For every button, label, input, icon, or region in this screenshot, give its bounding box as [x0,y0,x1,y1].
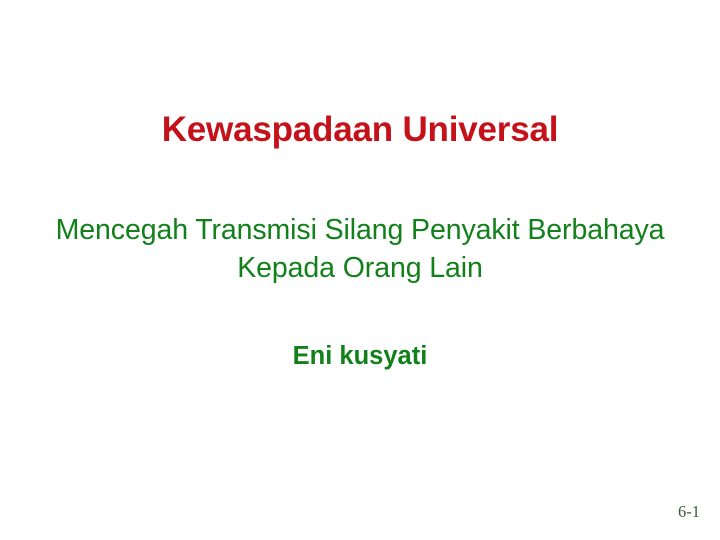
page-title: Kewaspadaan Universal [0,109,720,151]
slide-subtitle: Mencegah Transmisi Silang Penyakit Berba… [18,211,702,287]
author-name: Eni kusyati [0,341,720,371]
slide-canvas: Kewaspadaan Universal Mencegah Transmisi… [0,0,720,540]
page-number: 6-1 [678,502,700,522]
